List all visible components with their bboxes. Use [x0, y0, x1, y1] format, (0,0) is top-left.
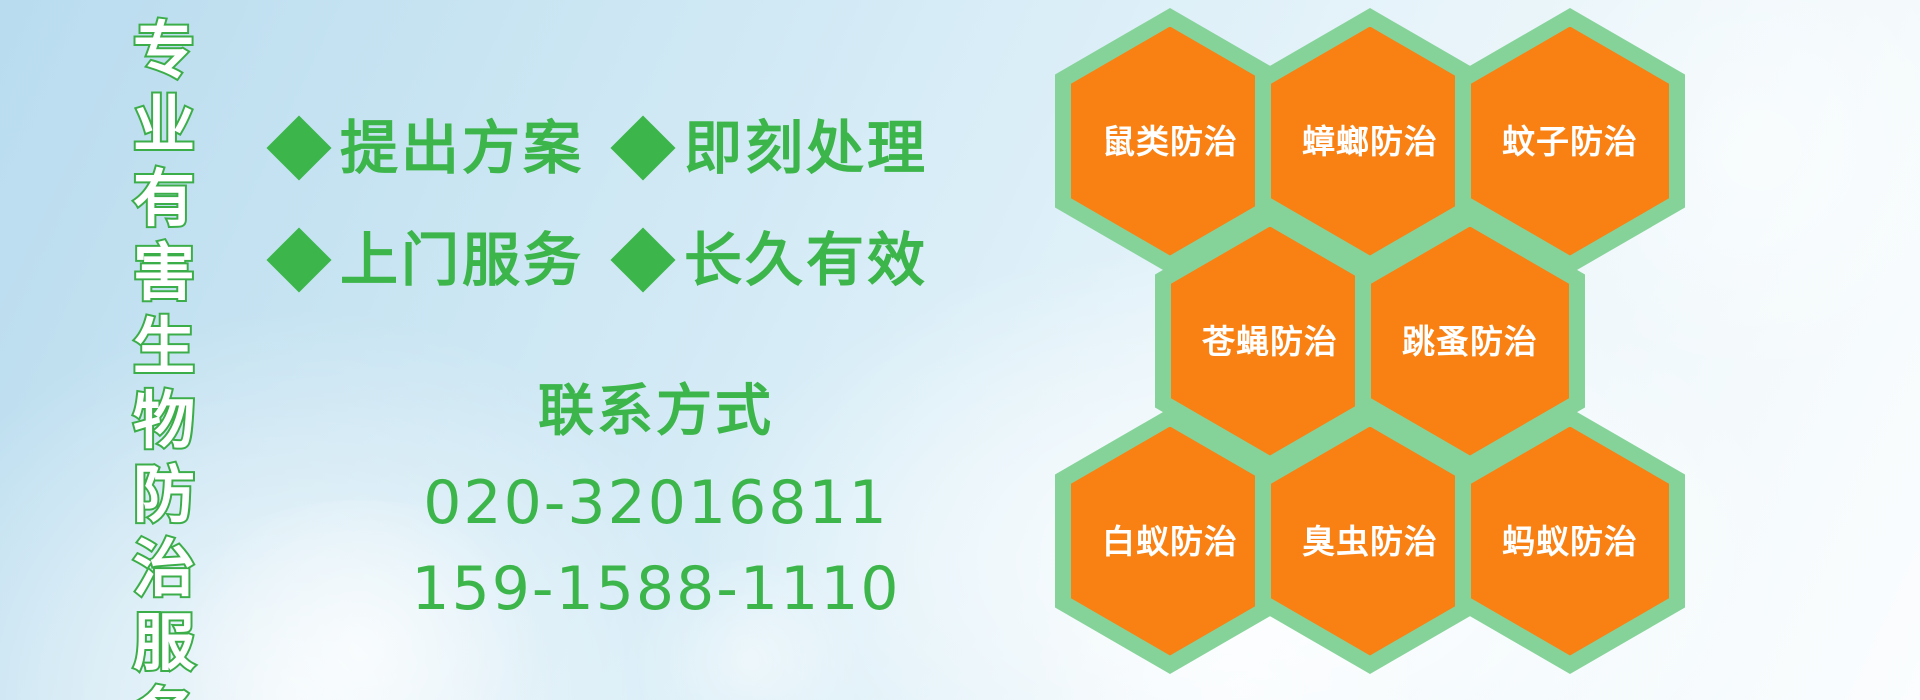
hex-inner: 苍蝇防治	[1171, 227, 1369, 456]
vertical-headline-char: 物	[133, 384, 195, 458]
hex-inner: 蚊子防治	[1471, 27, 1669, 256]
vertical-headline-char: 服	[133, 606, 195, 680]
vertical-headline-char: 业	[133, 88, 195, 162]
hex-label: 苍蝇防治	[1202, 325, 1338, 358]
feature-row: 提出方案 即刻处理	[276, 92, 1066, 204]
diamond-bullet-icon	[610, 115, 675, 180]
hex-label: 蚂蚁防治	[1502, 525, 1638, 558]
vertical-headline-char: 生	[133, 310, 195, 384]
contact-title: 联系方式	[246, 380, 1066, 444]
hex-label: 白蚁防治	[1102, 525, 1238, 558]
hex-inner: 蟑螂防治	[1271, 27, 1469, 256]
diamond-bullet-icon	[610, 227, 675, 292]
vertical-headline-char: 防	[133, 458, 195, 532]
feature-list: 提出方案 即刻处理 上门服务 长久有效	[276, 92, 1066, 316]
vertical-headline-char: 务	[133, 680, 195, 700]
feature-label: 长久有效	[684, 231, 928, 289]
hex-label: 鼠类防治	[1102, 125, 1238, 158]
feature-row: 上门服务 长久有效	[276, 204, 1066, 316]
service-honeycomb: 鼠类防治 蟑螂防治 蚊子防治 苍蝇防治 跳蚤防治 白蚁防治	[1055, 0, 1865, 700]
vertical-headline-char: 专	[133, 14, 195, 88]
hex-label: 蚊子防治	[1502, 125, 1638, 158]
contact-block: 联系方式 020-32016811 159-1588-1110	[276, 380, 1066, 632]
feature-label: 即刻处理	[684, 119, 928, 177]
contact-phone-landline[interactable]: 020-32016811	[246, 460, 1066, 546]
hex-inner: 鼠类防治	[1071, 27, 1269, 256]
vertical-headline-char: 有	[133, 162, 195, 236]
hex-label: 臭虫防治	[1302, 525, 1438, 558]
feature-item-onsite-service: 上门服务	[276, 231, 584, 289]
pest-control-banner: 专 业 有 害 生 物 防 治 服 务 提出方案 即刻处理 上门服务	[0, 0, 1920, 700]
diamond-bullet-icon	[266, 227, 331, 292]
hex-inner: 跳蚤防治	[1371, 227, 1569, 456]
vertical-headline-char: 害	[133, 236, 195, 310]
hex-label: 蟑螂防治	[1302, 125, 1438, 158]
vertical-headline: 专 业 有 害 生 物 防 治 服 务	[118, 14, 210, 684]
vertical-headline-char: 治	[133, 532, 195, 606]
feature-label: 上门服务	[340, 231, 584, 289]
hex-label: 跳蚤防治	[1402, 325, 1538, 358]
feature-label: 提出方案	[340, 119, 584, 177]
hex-inner: 蚂蚁防治	[1471, 427, 1669, 656]
hex-inner: 臭虫防治	[1271, 427, 1469, 656]
contact-phone-mobile[interactable]: 159-1588-1110	[246, 546, 1066, 632]
diamond-bullet-icon	[266, 115, 331, 180]
hex-inner: 白蚁防治	[1071, 427, 1269, 656]
feature-item-long-lasting: 长久有效	[620, 231, 928, 289]
feature-item-immediate-handling: 即刻处理	[620, 119, 928, 177]
feature-item-propose-plan: 提出方案	[276, 119, 584, 177]
